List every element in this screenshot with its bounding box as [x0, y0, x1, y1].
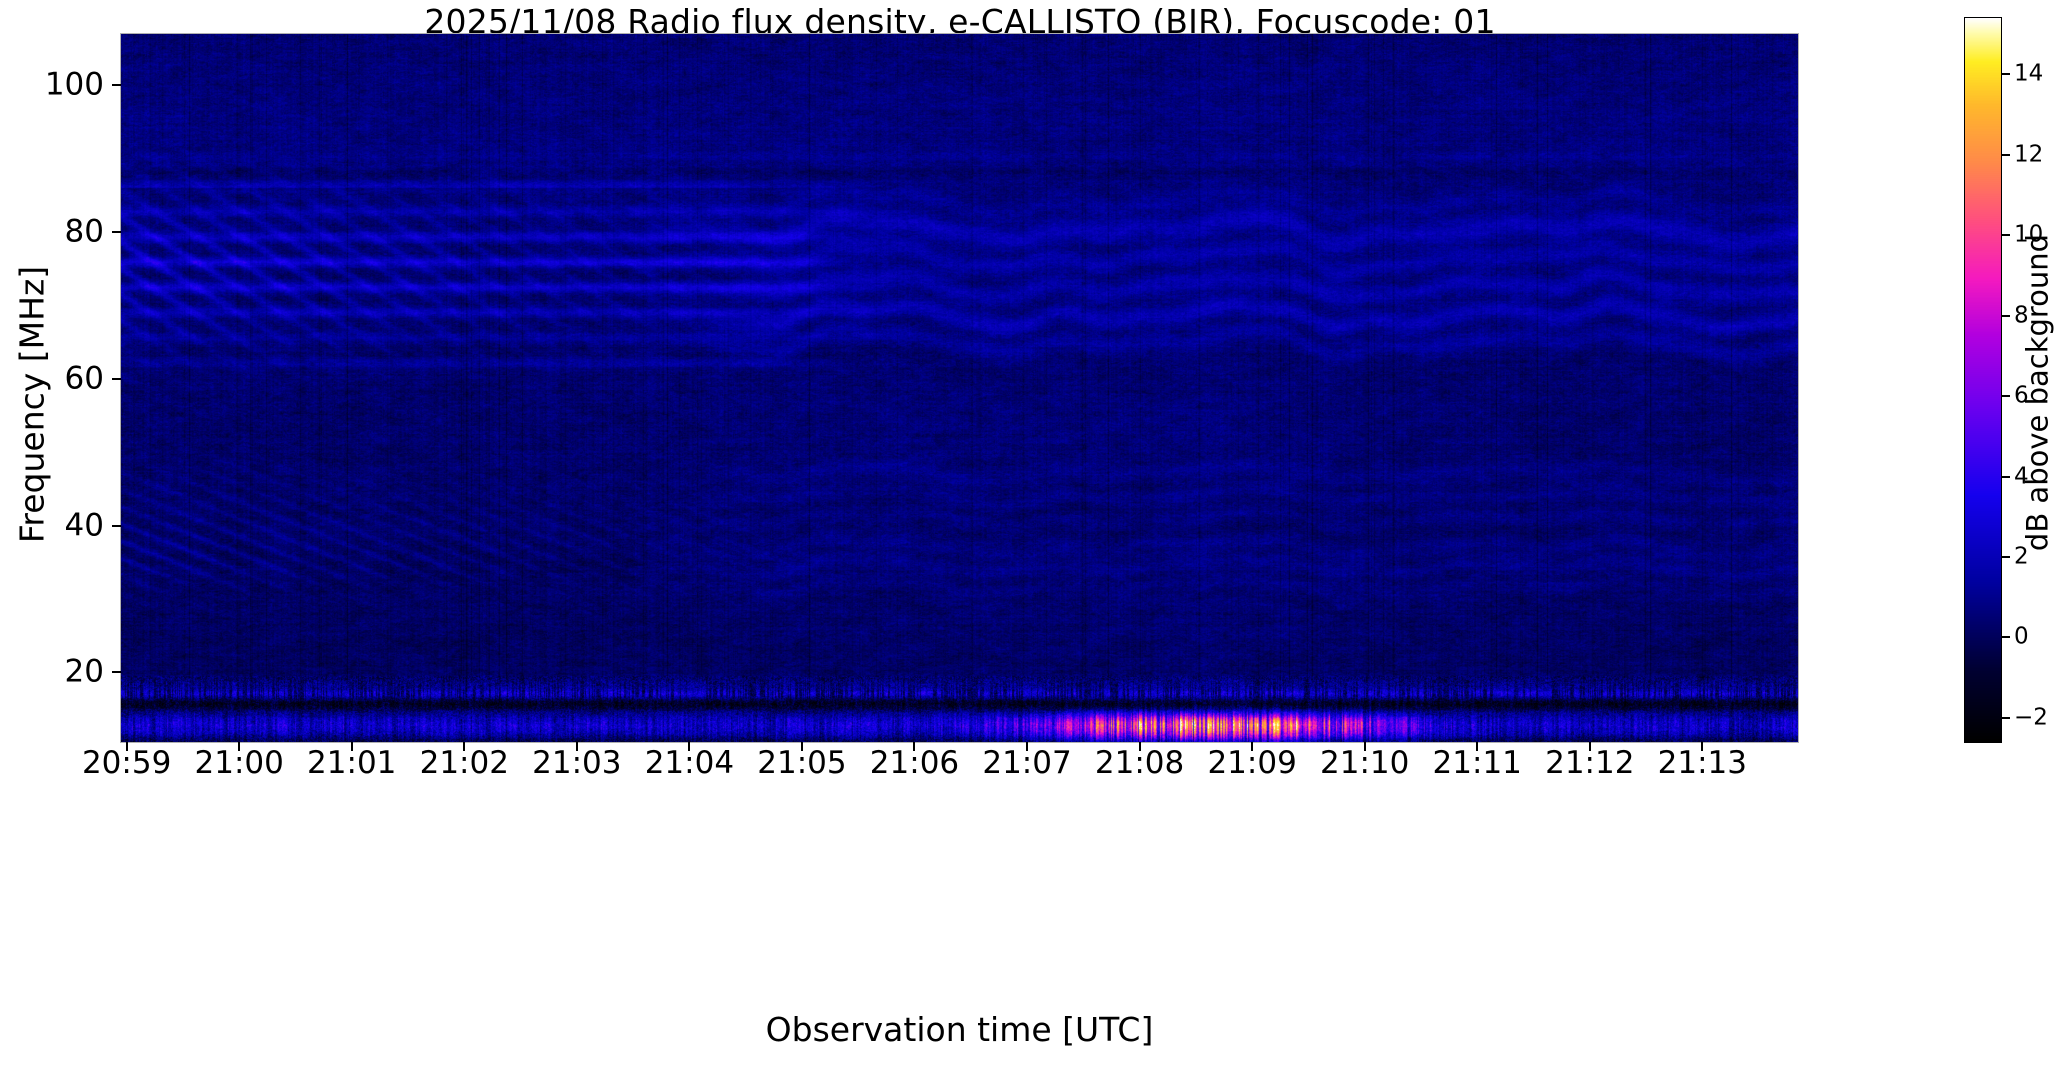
- colorbar-tick-mark: [2001, 556, 2010, 558]
- x-tick-mark: [238, 742, 240, 751]
- colorbar-tick-mark: [2001, 476, 2010, 478]
- colorbar-tick-mark: [2001, 154, 2010, 156]
- x-tick-label: 21:12: [1545, 748, 1634, 779]
- x-tick-mark: [351, 742, 353, 751]
- x-tick-label: 20:59: [82, 748, 171, 779]
- colorbar-tick-mark: [2001, 73, 2010, 75]
- x-tick-label: 21:02: [420, 748, 509, 779]
- colorbar-title: dB above background: [2024, 113, 2053, 673]
- x-tick-mark: [1026, 742, 1028, 751]
- x-tick-mark: [576, 742, 578, 751]
- x-tick-label: 21:05: [757, 748, 846, 779]
- x-tick-mark: [463, 742, 465, 751]
- x-tick-label: 21:00: [195, 748, 284, 779]
- colorbar-tick-mark: [2001, 717, 2010, 719]
- y-tick-mark: [112, 671, 121, 673]
- x-tick-label: 21:11: [1433, 748, 1522, 779]
- x-tick-label: 21:03: [532, 748, 621, 779]
- colorbar-tick-mark: [2001, 636, 2010, 638]
- colorbar-tick-mark: [2001, 234, 2010, 236]
- x-tick-mark: [1139, 742, 1141, 751]
- y-tick-mark: [112, 525, 121, 527]
- x-tick-mark: [1589, 742, 1591, 751]
- x-tick-label: 21:06: [870, 748, 959, 779]
- x-tick-mark: [1476, 742, 1478, 751]
- x-tick-label: 21:13: [1658, 748, 1747, 779]
- colorbar: [1965, 18, 2001, 742]
- colorbar-tick-label: 14: [2014, 63, 2043, 86]
- y-tick-mark: [112, 378, 121, 380]
- x-tick-label: 21:04: [645, 748, 734, 779]
- y-tick-mark: [112, 84, 121, 86]
- y-tick-label: 40: [65, 510, 104, 541]
- x-tick-label: 21:08: [1095, 748, 1184, 779]
- spectrogram-plot-area: [121, 34, 1798, 742]
- spectrogram-image: [121, 34, 1798, 742]
- y-tick-label: 20: [65, 657, 104, 688]
- y-axis-ticklabels: 10080604020: [0, 0, 104, 1067]
- x-tick-mark: [1364, 742, 1366, 751]
- x-tick-mark: [126, 742, 128, 751]
- y-tick-label: 80: [65, 217, 104, 248]
- x-tick-label: 21:10: [1320, 748, 1409, 779]
- colorbar-tick-mark: [2001, 315, 2010, 317]
- x-tick-mark: [688, 742, 690, 751]
- x-tick-mark: [1701, 742, 1703, 751]
- x-tick-mark: [801, 742, 803, 751]
- figure-canvas: 2025/11/08 Radio flux density, e-CALLIST…: [0, 0, 2066, 1067]
- x-tick-label: 21:09: [1207, 748, 1296, 779]
- x-tick-mark: [1251, 742, 1253, 751]
- x-tick-label: 21:01: [307, 748, 396, 779]
- y-tick-label: 100: [45, 70, 104, 101]
- colorbar-tick-label: −2: [2014, 706, 2048, 729]
- colorbar-tick-mark: [2001, 395, 2010, 397]
- x-tick-label: 21:07: [982, 748, 1071, 779]
- x-axis-title: Observation time [UTC]: [121, 1013, 1798, 1046]
- y-tick-label: 60: [65, 363, 104, 394]
- colorbar-gradient: [1965, 18, 2001, 742]
- x-tick-mark: [913, 742, 915, 751]
- y-tick-mark: [112, 231, 121, 233]
